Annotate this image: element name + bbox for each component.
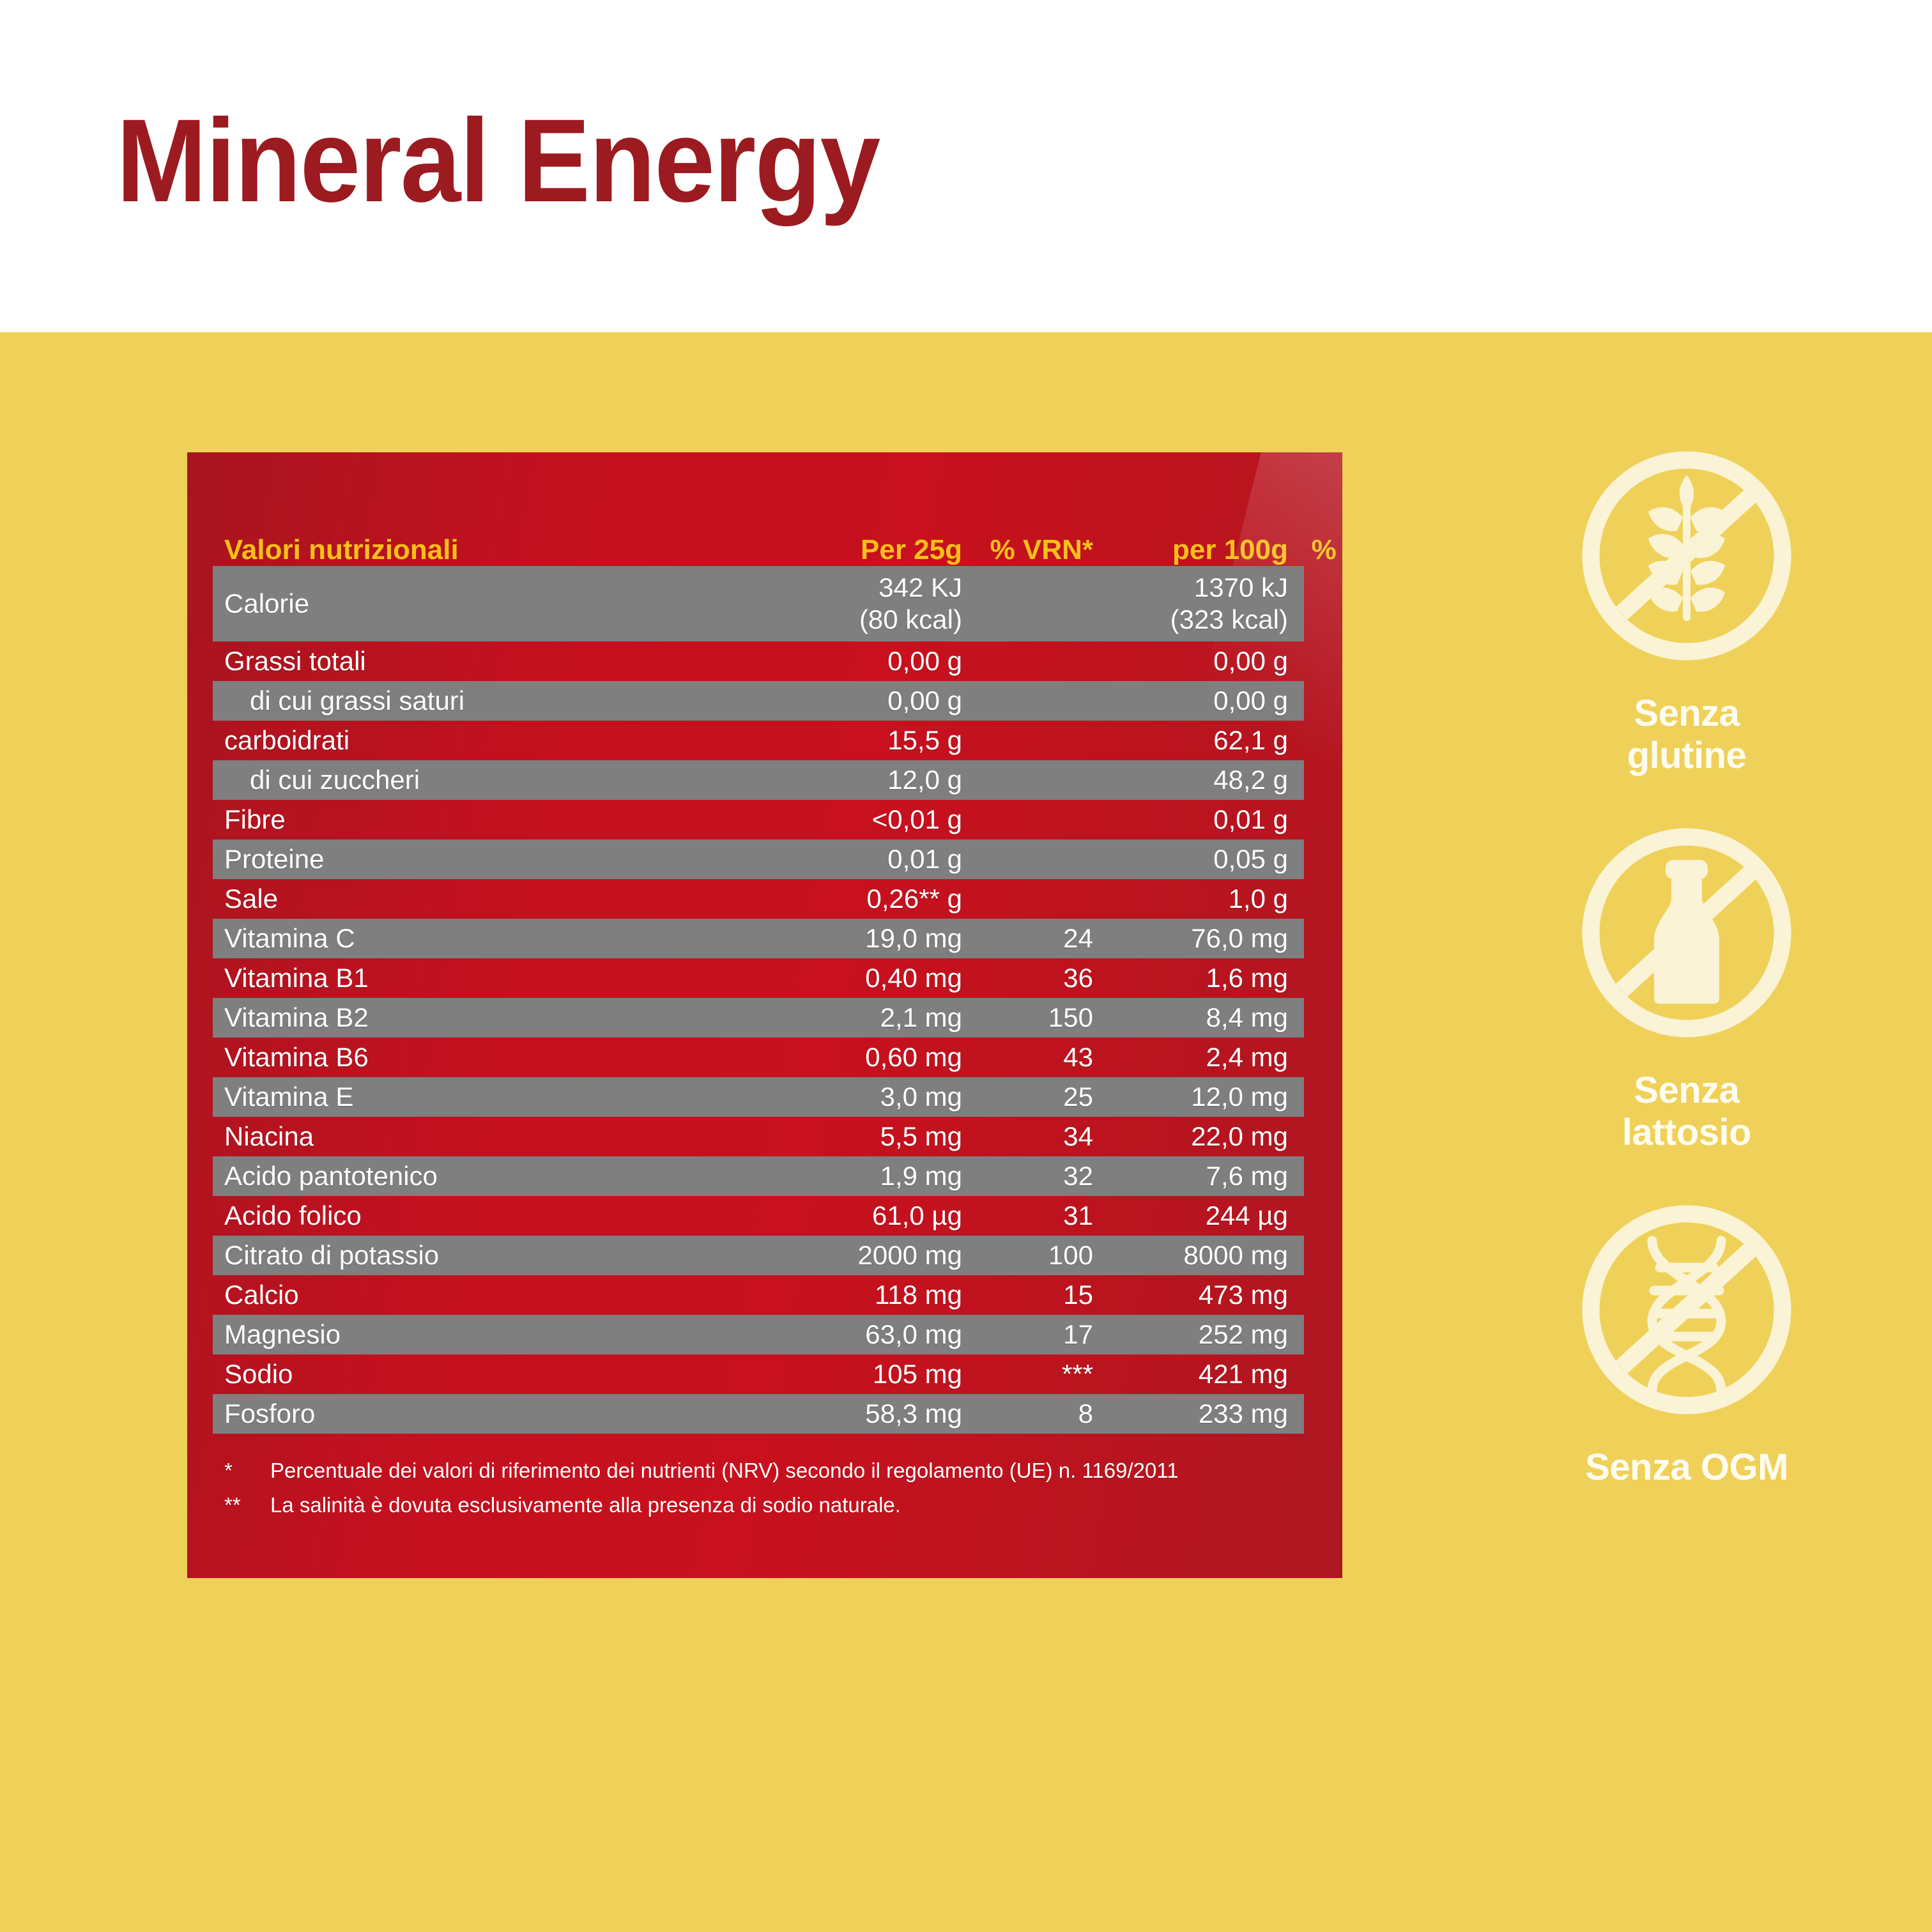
- table-row: Grassi totali0,00 g0,00 g: [213, 641, 1304, 681]
- footnote-row: *Percentuale dei valori di riferimento d…: [224, 1453, 1304, 1487]
- nutrition-table-body: Calorie342 KJ(80 kcal)1370 kJ(323 kcal)G…: [187, 566, 1342, 1434]
- row-value-per-100g: 473 mg: [1093, 1282, 1288, 1308]
- row-label: Acido pantotenico: [224, 1163, 770, 1190]
- table-row: carboidrati15,5 g62,1 g: [213, 721, 1304, 760]
- row-label: Vitamina E: [224, 1084, 770, 1110]
- row-nrv-per-100g: 600: [1288, 1004, 1342, 1031]
- row-value-per-serving: 3,0 mg: [770, 1084, 962, 1110]
- row-value-per-100g: 233 mg: [1093, 1400, 1288, 1427]
- badge-no-gmo: Senza OGM: [1508, 1195, 1866, 1489]
- nutrition-panel: Valori nutrizionali Per 25g % VRN* per 1…: [187, 452, 1342, 1578]
- badge-no-gluten: Senza glutine: [1508, 441, 1866, 777]
- row-label: Calcio: [224, 1282, 770, 1308]
- table-row: Niacina5,5 mg3422,0 mg138: [213, 1117, 1304, 1156]
- badge-label-no-gmo: Senza OGM: [1585, 1446, 1788, 1489]
- table-row: Sale0,26** g1,0 g: [213, 879, 1304, 919]
- column-header-label: Valori nutrizionali: [224, 534, 770, 566]
- row-value-per-serving: 0,26** g: [770, 885, 962, 912]
- row-label: Fibre: [224, 806, 770, 833]
- page-title: Mineral Energy: [116, 102, 879, 220]
- table-header-row: Valori nutrizionali Per 25g % VRN* per 1…: [213, 511, 1304, 566]
- row-value-per-100g: 252 mg: [1093, 1321, 1288, 1348]
- no-gmo-icon: [1572, 1195, 1802, 1425]
- nutrition-label-page: Mineral Energy Valori nutrizionali Per 2…: [0, 0, 1932, 1932]
- row-nrv-per-serving: 8: [962, 1400, 1093, 1427]
- row-nrv-per-100g: 171: [1288, 1044, 1342, 1071]
- table-row: Calcio118 mg15473 mg60: [213, 1275, 1304, 1315]
- no-gluten-icon: [1572, 441, 1802, 671]
- row-nrv-per-100g: 121: [1288, 1202, 1342, 1229]
- table-row: Sodio105 mg***421 mg***: [213, 1354, 1304, 1394]
- row-value-per-serving: 0,60 mg: [770, 1044, 962, 1071]
- row-value-per-100g: 7,6 mg: [1093, 1163, 1288, 1190]
- row-label: Vitamina B1: [224, 965, 770, 992]
- row-label: Vitamina B2: [224, 1004, 770, 1031]
- row-label: di cui grassi saturi: [224, 687, 770, 714]
- row-nrv-per-serving: 32: [962, 1163, 1093, 1190]
- row-label: Vitamina B6: [224, 1044, 770, 1071]
- table-row: Magnesio63,0 mg17252 mg68: [213, 1315, 1304, 1354]
- header-band: Mineral Energy: [0, 0, 1932, 332]
- row-label: Niacina: [224, 1123, 770, 1150]
- row-value-per-serving: 0,40 mg: [770, 965, 962, 992]
- row-label: Fosforo: [224, 1400, 770, 1427]
- row-value-per-100g: 8,4 mg: [1093, 1004, 1288, 1031]
- row-nrv-per-serving: ***: [962, 1361, 1093, 1388]
- row-nrv-per-100g: 95: [1288, 925, 1342, 952]
- table-row: Calorie342 KJ(80 kcal)1370 kJ(323 kcal): [213, 566, 1304, 641]
- row-nrv-per-serving: 36: [962, 965, 1093, 992]
- footnote-marker: *: [224, 1453, 270, 1487]
- table-row: Acido folico61,0 µg31244 µg121: [213, 1196, 1304, 1236]
- row-label: carboidrati: [224, 727, 770, 754]
- row-value-per-serving: 0,00 g: [770, 648, 962, 675]
- table-row: Acido pantotenico1,9 mg327,6 mg126: [213, 1156, 1304, 1196]
- row-label: Sale: [224, 885, 770, 912]
- badge-label-no-lactose: Senza lattosio: [1622, 1069, 1751, 1154]
- row-label: Citrato di potassio: [224, 1242, 770, 1269]
- table-row: di cui zuccheri12,0 g48,2 g: [213, 760, 1304, 800]
- table-row: Vitamina C19,0 mg2476,0 mg95: [213, 919, 1304, 958]
- row-nrv-per-100g: 60: [1288, 1282, 1342, 1308]
- table-row: Fosforo58,3 mg8233 mg33: [213, 1394, 1304, 1434]
- row-label: Proteine: [224, 846, 770, 873]
- footnote-text: Percentuale dei valori di riferimento de…: [270, 1453, 1304, 1487]
- row-value-per-serving: 118 mg: [770, 1282, 962, 1308]
- row-value-per-serving: 2,1 mg: [770, 1004, 962, 1031]
- table-row: Fibre<0,01 g0,01 g: [213, 800, 1304, 839]
- row-value-per-100g: 0,00 g: [1093, 687, 1288, 714]
- row-value-per-serving: 105 mg: [770, 1361, 962, 1388]
- row-value-per-100g: 2,4 mg: [1093, 1044, 1288, 1071]
- row-label: Vitamina C: [224, 925, 770, 952]
- table-row: Vitamina B22,1 mg1508,4 mg600: [213, 998, 1304, 1038]
- row-nrv-per-100g: 33: [1288, 1400, 1342, 1427]
- row-value-per-serving: 19,0 mg: [770, 925, 962, 952]
- row-value-per-serving: 63,0 mg: [770, 1321, 962, 1348]
- panel-top-spacer: [187, 452, 1342, 511]
- row-nrv-per-serving: 34: [962, 1123, 1093, 1150]
- footnotes-block: *Percentuale dei valori di riferimento d…: [224, 1453, 1304, 1522]
- row-value-per-100g: 0,00 g: [1093, 648, 1288, 675]
- row-label: Grassi totali: [224, 648, 770, 675]
- row-value-per-serving: 58,3 mg: [770, 1400, 962, 1427]
- row-value-per-100g: 1,0 g: [1093, 885, 1288, 912]
- row-value-per-100g: 22,0 mg: [1093, 1123, 1288, 1150]
- row-nrv-per-serving: 43: [962, 1044, 1093, 1071]
- table-row: Citrato di potassio2000 mg1008000 mg400: [213, 1236, 1304, 1275]
- column-header-per-100g-nrv: % VRN*: [1288, 534, 1342, 566]
- row-nrv-per-100g: 100: [1288, 1084, 1342, 1110]
- row-value-per-100g: 1,6 mg: [1093, 965, 1288, 992]
- row-value-per-100g: 1370 kJ(323 kcal): [1093, 572, 1288, 635]
- row-nrv-per-100g: 126: [1288, 1163, 1342, 1190]
- row-nrv-per-100g: 400: [1288, 1242, 1342, 1269]
- column-header-per-serving: Per 25g: [770, 534, 962, 566]
- row-nrv-per-100g: 68: [1288, 1321, 1342, 1348]
- row-nrv-per-serving: 150: [962, 1004, 1093, 1031]
- row-value-per-100g: 0,01 g: [1093, 806, 1288, 833]
- table-row: Vitamina B60,60 mg432,4 mg171: [213, 1038, 1304, 1077]
- badge-no-lactose: Senza lattosio: [1508, 818, 1866, 1154]
- footnote-text: La salinità è dovuta esclusivamente alla…: [270, 1488, 1304, 1522]
- row-label: Calorie: [224, 590, 770, 617]
- row-nrv-per-100g: 138: [1288, 1123, 1342, 1150]
- row-nrv-per-serving: 100: [962, 1242, 1093, 1269]
- footnote-row: **La salinità è dovuta esclusivamente al…: [224, 1488, 1304, 1522]
- no-lactose-icon: [1572, 818, 1802, 1048]
- row-value-per-100g: 76,0 mg: [1093, 925, 1288, 952]
- row-nrv-per-serving: 17: [962, 1321, 1093, 1348]
- row-nrv-per-100g: ***: [1288, 1361, 1342, 1388]
- footnote-marker: **: [224, 1488, 270, 1522]
- row-nrv-per-serving: 31: [962, 1202, 1093, 1229]
- row-value-per-serving: 0,00 g: [770, 687, 962, 714]
- row-label: Sodio: [224, 1361, 770, 1388]
- claims-badges: Senza glutine Senza lattosio: [1508, 441, 1866, 1489]
- row-value-per-serving: 61,0 µg: [770, 1202, 962, 1229]
- row-value-per-100g: 62,1 g: [1093, 727, 1288, 754]
- table-row: di cui grassi saturi0,00 g0,00 g: [213, 681, 1304, 721]
- row-value-per-serving: 5,5 mg: [770, 1123, 962, 1150]
- row-value-per-serving: 342 KJ(80 kcal): [770, 572, 962, 635]
- row-value-per-serving: <0,01 g: [770, 806, 962, 833]
- row-value-per-100g: 8000 mg: [1093, 1242, 1288, 1269]
- row-nrv-per-serving: 25: [962, 1084, 1093, 1110]
- row-value-per-serving: 0,01 g: [770, 846, 962, 873]
- row-value-per-100g: 421 mg: [1093, 1361, 1288, 1388]
- row-value-per-serving: 1,9 mg: [770, 1163, 962, 1190]
- row-value-per-serving: 2000 mg: [770, 1242, 962, 1269]
- table-row: Proteine0,01 g0,05 g: [213, 839, 1304, 879]
- row-value-per-100g: 0,05 g: [1093, 846, 1288, 873]
- row-value-per-100g: 12,0 mg: [1093, 1084, 1288, 1110]
- column-header-per-100g: per 100g: [1093, 534, 1288, 566]
- row-nrv-per-serving: 24: [962, 925, 1093, 952]
- row-value-per-100g: 244 µg: [1093, 1202, 1288, 1229]
- row-nrv-per-100g: 145: [1288, 965, 1342, 992]
- row-nrv-per-serving: 15: [962, 1282, 1093, 1308]
- table-row: Vitamina E3,0 mg2512,0 mg100: [213, 1077, 1304, 1117]
- table-row: Vitamina B10,40 mg361,6 mg145: [213, 958, 1304, 998]
- badge-label-no-gluten: Senza glutine: [1627, 693, 1747, 777]
- row-value-per-serving: 12,0 g: [770, 767, 962, 793]
- row-value-per-100g: 48,2 g: [1093, 767, 1288, 793]
- row-label: Magnesio: [224, 1321, 770, 1348]
- row-label: Acido folico: [224, 1202, 770, 1229]
- column-header-per-serving-nrv: % VRN*: [962, 534, 1093, 566]
- row-label: di cui zuccheri: [224, 767, 770, 793]
- row-value-per-serving: 15,5 g: [770, 727, 962, 754]
